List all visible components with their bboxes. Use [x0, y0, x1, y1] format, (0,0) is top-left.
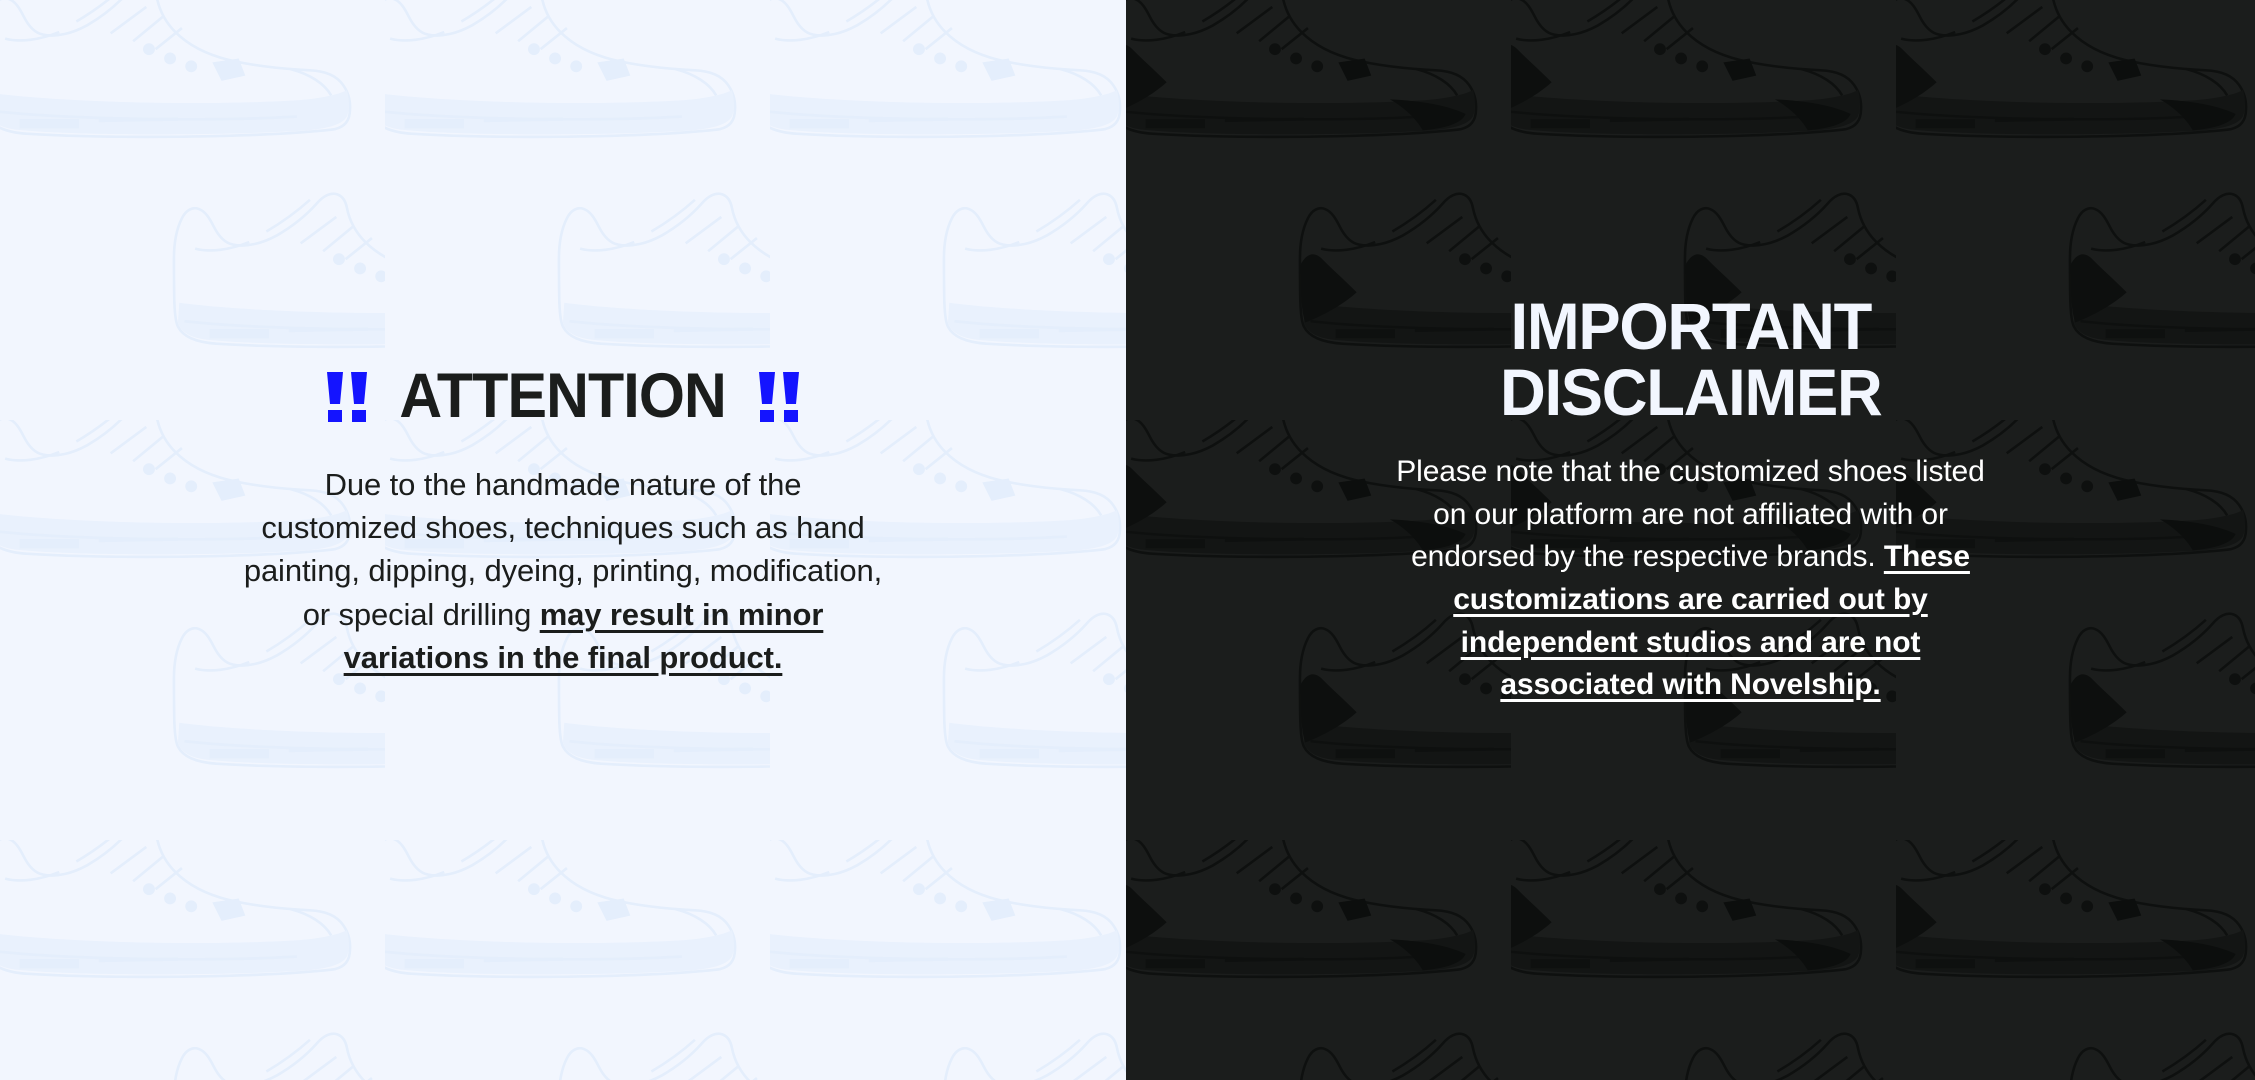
- attention-panel: ATTENTION Due to the handmade nature of …: [0, 0, 1126, 1080]
- disclaimer-content: IMPORTANT DISCLAIMER Please note that th…: [1381, 293, 2001, 707]
- double-exclamation-icon: [325, 370, 369, 424]
- attention-content: ATTENTION Due to the handmade nature of …: [243, 364, 883, 679]
- attention-headline-text: ATTENTION: [400, 364, 726, 428]
- disclaimer-body: Please note that the customized shoes li…: [1381, 451, 2001, 707]
- disclaimer-headline-line1: IMPORTANT: [1510, 293, 1870, 359]
- disclaimer-headline: IMPORTANT DISCLAIMER: [1381, 293, 2001, 425]
- disclaimer-banner: ATTENTION Due to the handmade nature of …: [0, 0, 2255, 1080]
- disclaimer-panel: IMPORTANT DISCLAIMER Please note that th…: [1126, 0, 2255, 1080]
- attention-body: Due to the handmade nature of the custom…: [243, 463, 883, 680]
- attention-headline: ATTENTION: [243, 364, 883, 428]
- double-exclamation-icon: [757, 370, 801, 424]
- disclaimer-headline-line2: DISCLAIMER: [1500, 359, 1882, 425]
